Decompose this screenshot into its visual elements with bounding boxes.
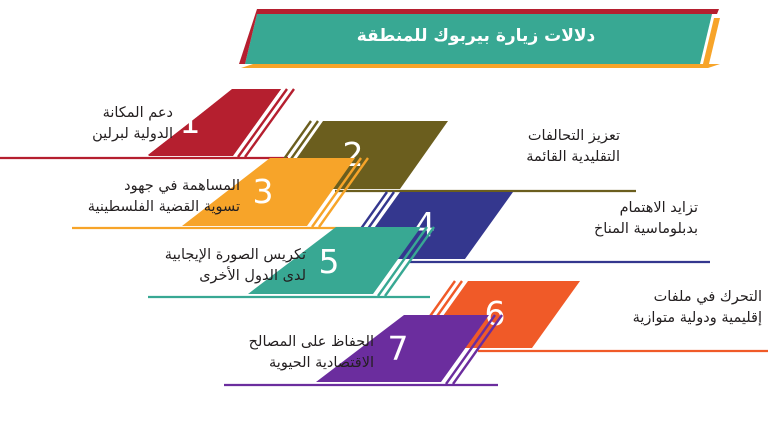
- item-7-graphics: [0, 0, 768, 432]
- item-7-number: 7: [378, 332, 418, 365]
- item-row-7: 7 الحفاظ على المصالح الاقتصادية الحيوية: [0, 0, 768, 432]
- infographic-root: دلالات زيارة بيربوك للمنطقة 1 دعم المكان…: [0, 0, 768, 432]
- item-7-label: الحفاظ على المصالح الاقتصادية الحيوية: [189, 332, 374, 373]
